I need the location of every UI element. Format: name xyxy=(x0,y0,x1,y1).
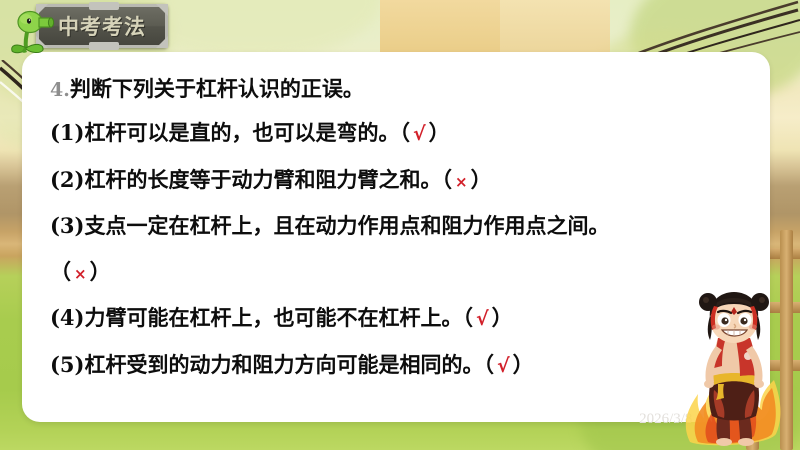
banner-plaque: 中考考法 xyxy=(36,4,168,48)
item-text: 杠杆的长度等于动力臂和阻力臂之和。 xyxy=(84,167,441,192)
nezha-character-icon xyxy=(674,290,792,450)
item-open-paren: （ xyxy=(399,120,410,145)
item-close-paren: ） xyxy=(471,167,492,192)
banner-title: 中考考法 xyxy=(58,11,146,41)
slide-root: 中考考法 4.判断下列关于杠杆认识的正误。 (1)杠杆可以是直的，也可以是弯的。… xyxy=(0,0,800,450)
item-close-paren: ） xyxy=(513,352,534,377)
item-close-paren: ） xyxy=(492,305,513,330)
item-label: (4) xyxy=(50,305,84,330)
question-stem-line: 4.判断下列关于杠杆认识的正误。 xyxy=(50,78,750,100)
item-label: (3) xyxy=(50,213,84,238)
answer-check-icon: √ xyxy=(473,308,492,330)
item-open-paren: （ xyxy=(441,167,452,192)
question-item-5: (5)杠杆受到的动力和阻力方向可能是相同的。（√） xyxy=(50,354,750,376)
wooden-plank xyxy=(500,0,610,52)
item-text: 杠杆可以是直的，也可以是弯的。 xyxy=(84,120,399,145)
question-item-4: (4)力臂可能在杠杆上，也可能不在杠杆上。（√） xyxy=(50,307,750,329)
content-card: 4.判断下列关于杠杆认识的正误。 (1)杠杆可以是直的，也可以是弯的。（√） (… xyxy=(22,52,770,422)
question-stem-text: 判断下列关于杠杆认识的正误。 xyxy=(70,76,364,101)
wooden-plank xyxy=(380,0,500,60)
item-open-paren: （ xyxy=(462,305,473,330)
question-number: 4. xyxy=(50,79,70,101)
question-item-1: (1)杠杆可以是直的，也可以是弯的。（√） xyxy=(50,122,750,144)
item-label: (2) xyxy=(50,167,84,192)
title-banner: 中考考法 xyxy=(36,4,168,48)
item-label: (1) xyxy=(50,120,84,145)
item-open-paren: （ xyxy=(483,352,494,377)
question-item-3-answer: （×） xyxy=(50,261,750,282)
item-text: 力臂可能在杠杆上，也可能不在杠杆上。 xyxy=(84,305,462,330)
answer-cross-icon: × xyxy=(71,265,90,283)
question-item-2: (2)杠杆的长度等于动力臂和阻力臂之和。（×） xyxy=(50,169,750,190)
answer-check-icon: √ xyxy=(410,123,429,145)
item-text: 支点一定在杠杆上，且在动力作用点和阻力作用点之间。 xyxy=(84,213,609,238)
item-label: (5) xyxy=(50,352,84,377)
question-item-3: (3)支点一定在杠杆上，且在动力作用点和阻力作用点之间。 xyxy=(50,215,750,236)
item-close-paren: ） xyxy=(429,120,450,145)
peashooter-plant-icon xyxy=(6,8,54,54)
answer-cross-icon: × xyxy=(452,173,471,191)
item-open-paren: （ xyxy=(50,259,71,284)
plaque-corner xyxy=(156,36,168,48)
question-block: 4.判断下列关于杠杆认识的正误。 (1)杠杆可以是直的，也可以是弯的。（√） (… xyxy=(50,78,750,376)
plaque-corner xyxy=(156,4,168,16)
item-close-paren: ） xyxy=(90,259,111,284)
answer-check-icon: √ xyxy=(494,355,513,377)
item-text: 杠杆受到的动力和阻力方向可能是相同的。 xyxy=(84,352,483,377)
